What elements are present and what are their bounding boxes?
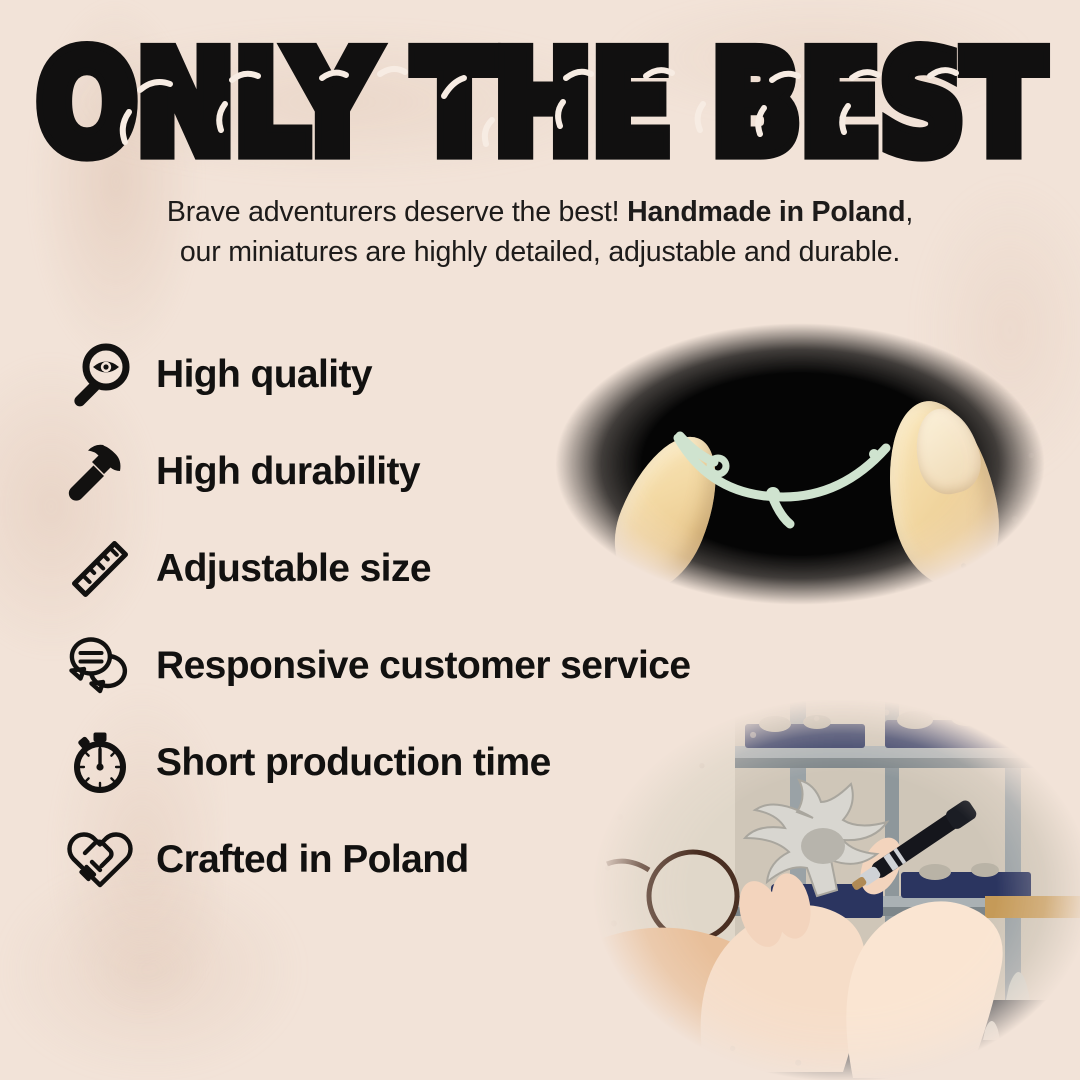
stopwatch-icon (62, 725, 138, 801)
subtitle-text-bold: Handmade in Poland (627, 196, 905, 228)
subtitle-line-1: Brave adventurers deserve the best! Hand… (167, 196, 913, 228)
subtitle-text-post: , (905, 196, 913, 228)
hands-crafting-miniature-photo (585, 700, 1080, 1080)
feature-label: Adjustable size (156, 547, 431, 591)
promo-poster: ONLY THE BEST Brave adventurers deserve … (0, 0, 1080, 1080)
feature-label: Responsive customer service (156, 644, 690, 688)
feature-label: High durability (156, 450, 420, 494)
hammer-icon (62, 434, 138, 510)
workshop-scene (585, 700, 1080, 1080)
fingers-holding-miniature-part-photo (540, 308, 1060, 620)
subtitle-line-2: our miniatures are highly detailed, adju… (180, 236, 900, 268)
handshake-heart-icon (62, 822, 138, 898)
page-title: ONLY THE BEST (0, 34, 1080, 173)
ruler-icon (62, 531, 138, 607)
speech-bubbles-icon (62, 628, 138, 704)
subtitle: Brave adventurers deserve the best! Hand… (90, 192, 990, 273)
magnifier-eye-icon (62, 337, 138, 413)
feature-label: Crafted in Poland (156, 838, 469, 882)
subtitle-text-pre: Brave adventurers deserve the best! (167, 196, 627, 228)
feature-label: High quality (156, 353, 372, 397)
miniature-part (660, 418, 960, 538)
feature-label: Short production time (156, 741, 551, 785)
